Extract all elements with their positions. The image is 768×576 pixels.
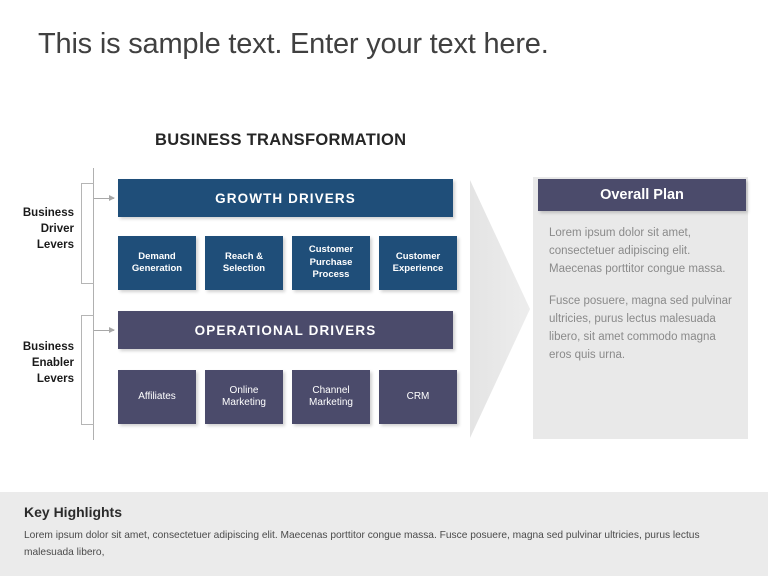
overall-plan-paragraph-2: Fusce posuere, magna sed pulvinar ultric… bbox=[549, 292, 739, 364]
key-highlights-title: Key Highlights bbox=[24, 504, 122, 520]
lever-label-business-driver: Business Driver Levers bbox=[2, 205, 74, 253]
card-crm[interactable]: CRM bbox=[379, 370, 457, 424]
bracket-business-driver bbox=[81, 183, 94, 284]
connector-arrow-icon-operational bbox=[94, 330, 114, 331]
card-customer-experience[interactable]: Customer Experience bbox=[379, 236, 457, 290]
key-highlights-text: Lorem ipsum dolor sit amet, consectetuer… bbox=[24, 527, 746, 561]
overall-plan-body: Lorem ipsum dolor sit amet, consectetuer… bbox=[549, 224, 739, 364]
growth-driver-card-row: Demand Generation Reach & Selection Cust… bbox=[118, 236, 458, 290]
business-enabler-card-row: Affiliates Online Marketing Channel Mark… bbox=[118, 370, 458, 424]
overall-plan-header[interactable]: Overall Plan bbox=[538, 179, 746, 211]
page-title: This is sample text. Enter your text her… bbox=[38, 28, 549, 61]
right-arrow-chevron-icon bbox=[470, 180, 530, 438]
banner-operational-drivers[interactable]: OPERATIONAL DRIVERS bbox=[118, 311, 453, 349]
card-affiliates[interactable]: Affiliates bbox=[118, 370, 196, 424]
overall-plan-paragraph-1: Lorem ipsum dolor sit amet, consectetuer… bbox=[549, 224, 739, 278]
bracket-business-enabler bbox=[81, 315, 94, 425]
connector-arrow-icon-growth bbox=[94, 198, 114, 199]
card-reach-selection[interactable]: Reach & Selection bbox=[205, 236, 283, 290]
card-channel-marketing[interactable]: Channel Marketing bbox=[292, 370, 370, 424]
card-demand-generation[interactable]: Demand Generation bbox=[118, 236, 196, 290]
banner-growth-drivers[interactable]: GROWTH DRIVERS bbox=[118, 179, 453, 217]
diagram-title: BUSINESS TRANSFORMATION bbox=[155, 131, 406, 150]
card-online-marketing[interactable]: Online Marketing bbox=[205, 370, 283, 424]
lever-label-business-enabler: Business Enabler Levers bbox=[2, 339, 74, 387]
slide-canvas: This is sample text. Enter your text her… bbox=[0, 0, 768, 576]
card-customer-purchase-process[interactable]: Customer Purchase Process bbox=[292, 236, 370, 290]
